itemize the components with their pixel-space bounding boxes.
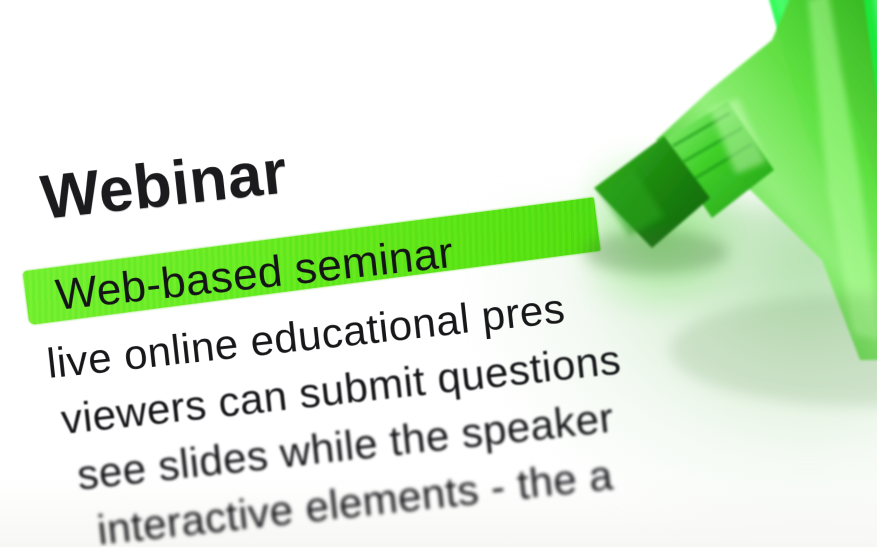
photo-scene: Webinar Web-based seminar live online ed… bbox=[0, 0, 877, 547]
paper-sheet bbox=[0, 0, 877, 547]
paper-bottom-shading bbox=[0, 477, 877, 547]
green-light-reflection bbox=[477, 200, 877, 530]
